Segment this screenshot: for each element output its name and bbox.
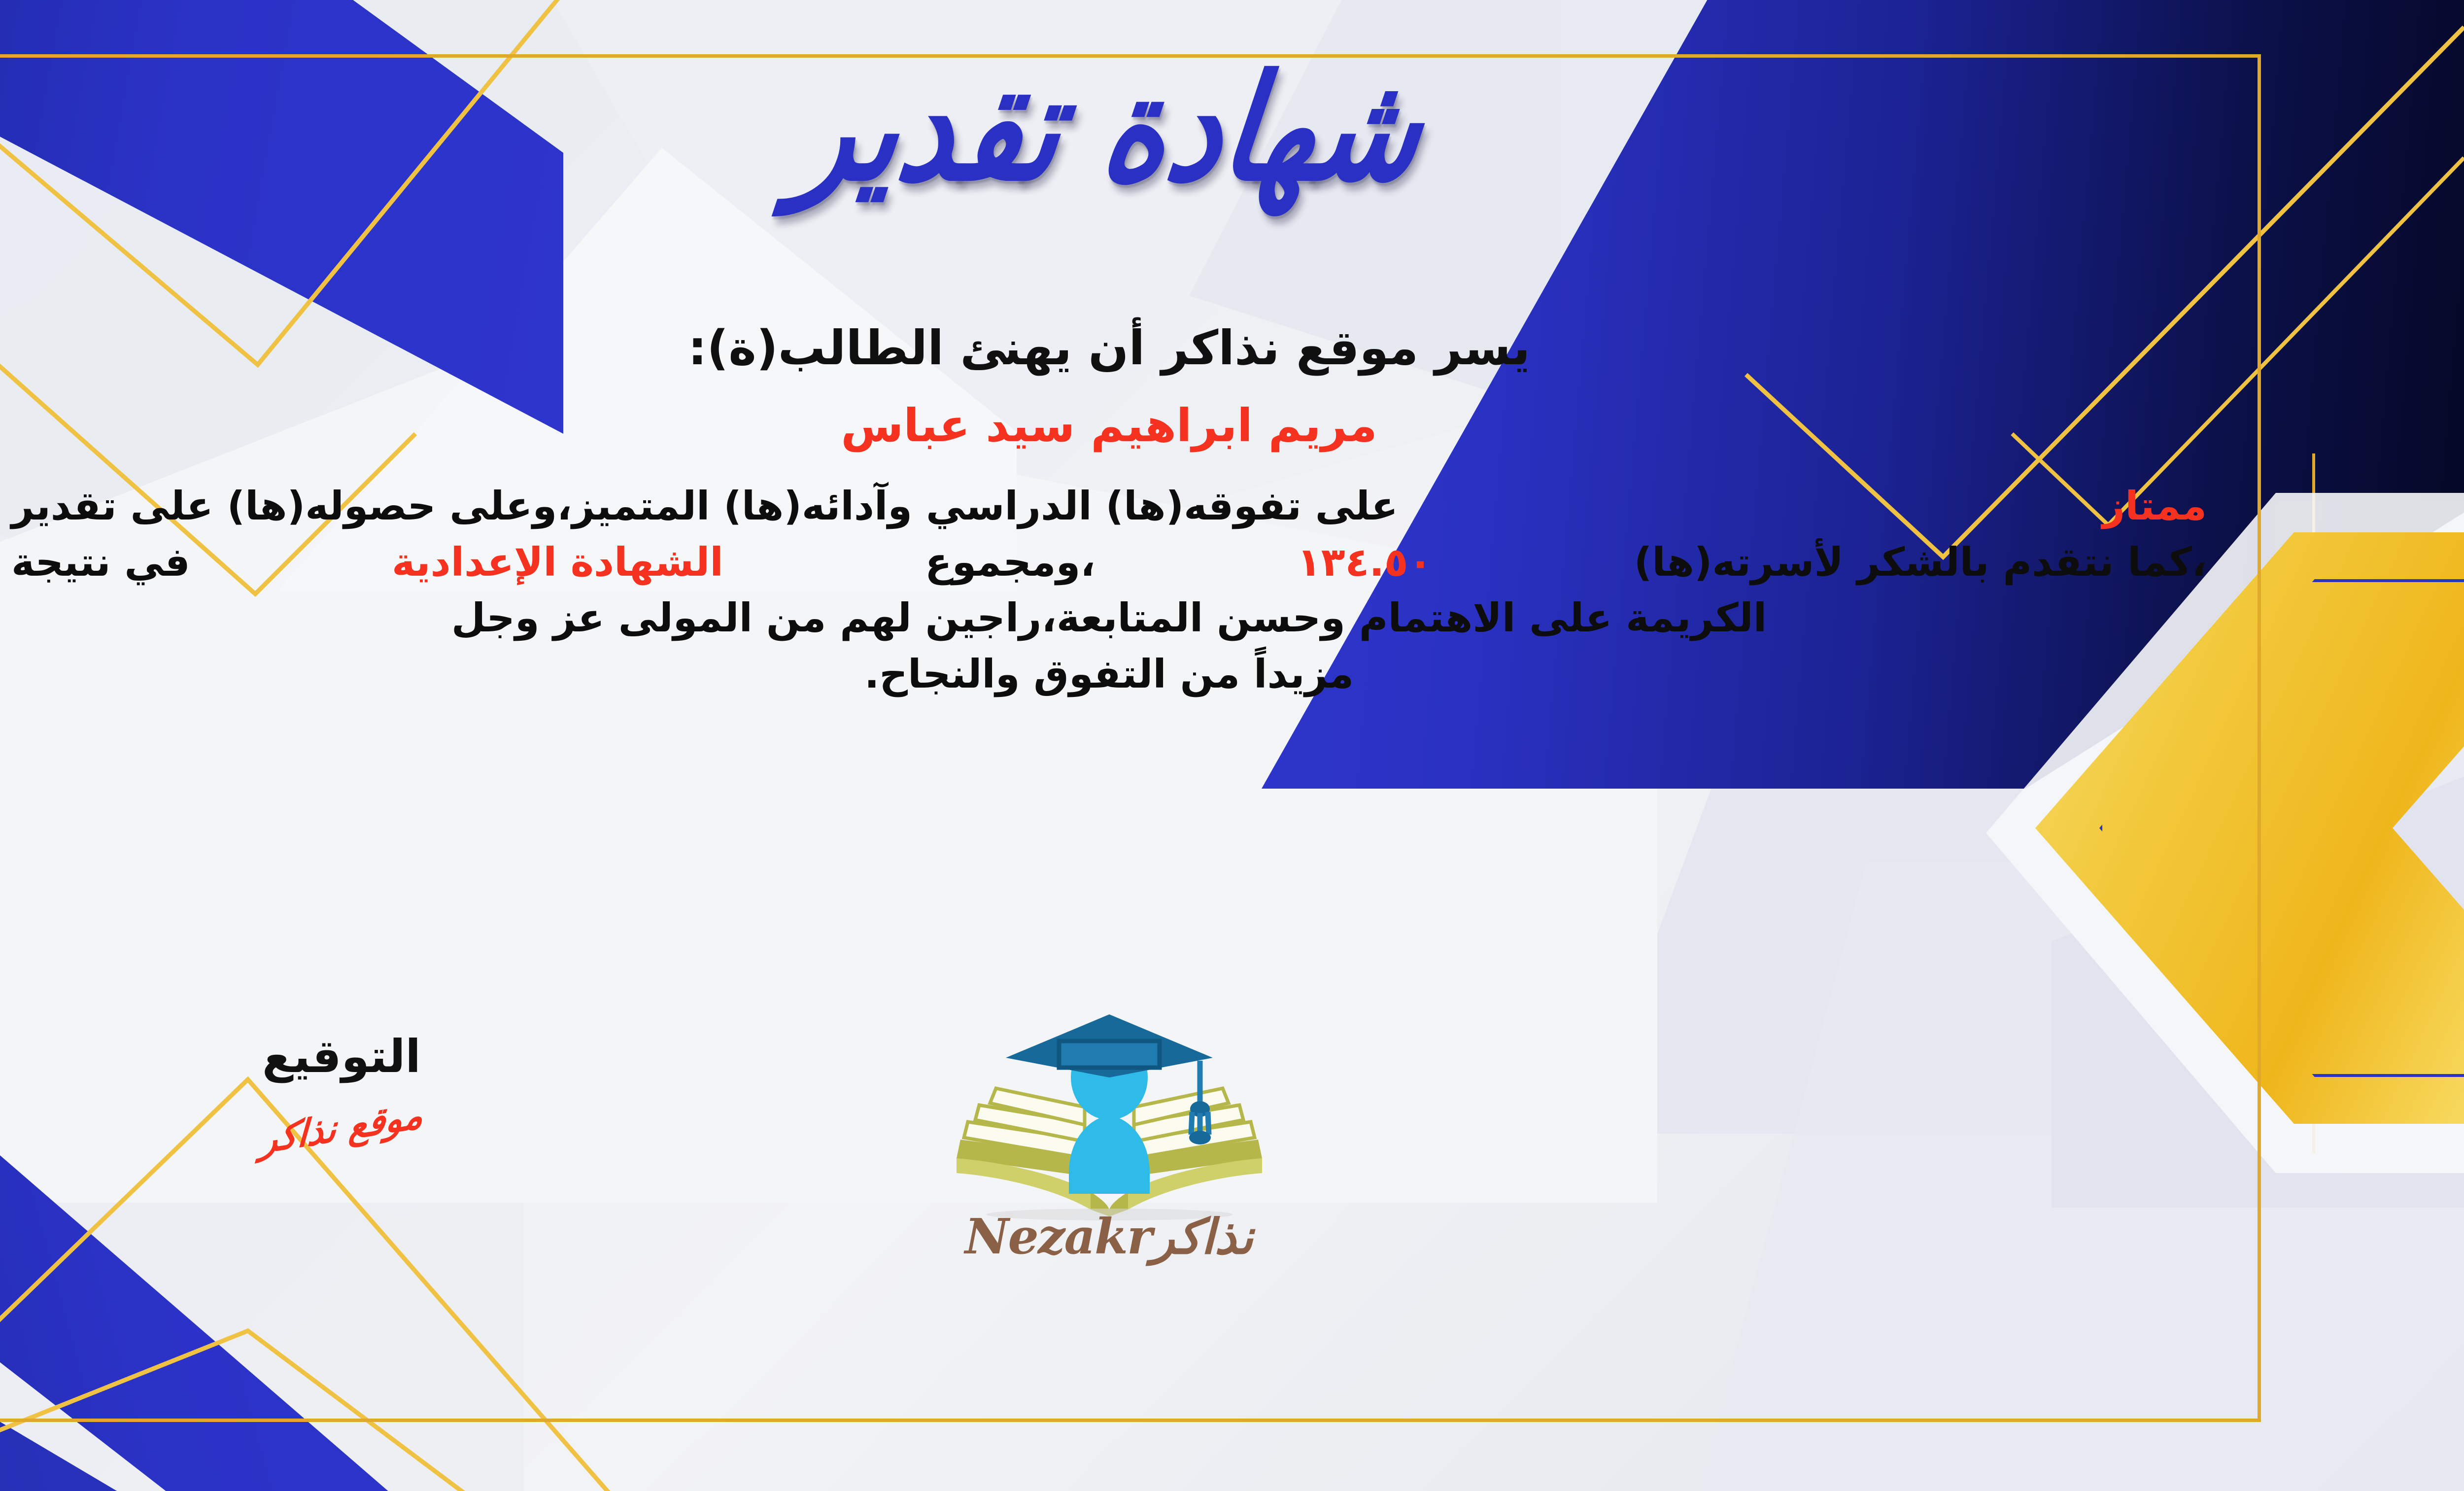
body-line-1-text: على تفوقه(ها) الدراسي وآدائه(ها) المتميز… xyxy=(11,478,1398,534)
body-line-1: ممتاز على تفوقه(ها) الدراسي وآدائه(ها) ا… xyxy=(11,478,2207,534)
certificate-title-box: شهادة تقدير xyxy=(0,64,2261,194)
grade-value: ممتاز xyxy=(2102,478,2207,534)
body-line-4: مزيداً من التفوق والنجاح. xyxy=(11,646,2207,702)
total-score: ١٣٤.٥٠ xyxy=(1297,534,1433,590)
student-name: مريم ابراهيم سيد عباس xyxy=(0,399,2261,452)
body-line-2-prefix: في نتيجة xyxy=(11,534,190,590)
certificate-title: شهادة تقدير xyxy=(788,52,1430,205)
body-line-2-suffix: ،كما نتقدم بالشكر لأسرته(ها) xyxy=(1634,534,2207,590)
body-line-2-middle: ،ومجموع xyxy=(925,534,1095,590)
logo-name-en: Nezakr xyxy=(965,1209,1152,1265)
body-line-2: ،كما نتقدم بالشكر لأسرته(ها) ١٣٤.٥٠ ،ومج… xyxy=(11,534,2207,590)
graduate-book-logo-icon xyxy=(937,1010,1282,1222)
logo-wordmark: نذاكرNezakr xyxy=(965,1209,1253,1265)
site-logo: نذاكرNezakr xyxy=(0,1010,2261,1265)
body-line-3: الكريمة على الاهتمام وحسن المتابعة،راجين… xyxy=(11,590,2207,646)
logo-name-ar: نذاكر xyxy=(1151,1209,1253,1265)
stage-name: الشهادة الإعدادية xyxy=(392,534,723,590)
congratulation-intro: يسر موقع نذاكر أن يهنئ الطالب(ة): xyxy=(0,320,2261,376)
certificate-content: شهادة تقدير يسر موقع نذاكر أن يهنئ الطال… xyxy=(0,54,2261,1422)
certificate-body: ممتاز على تفوقه(ها) الدراسي وآدائه(ها) ا… xyxy=(11,478,2207,702)
certificate-canvas: شهادة تقدير يسر موقع نذاكر أن يهنئ الطال… xyxy=(0,0,2464,1491)
